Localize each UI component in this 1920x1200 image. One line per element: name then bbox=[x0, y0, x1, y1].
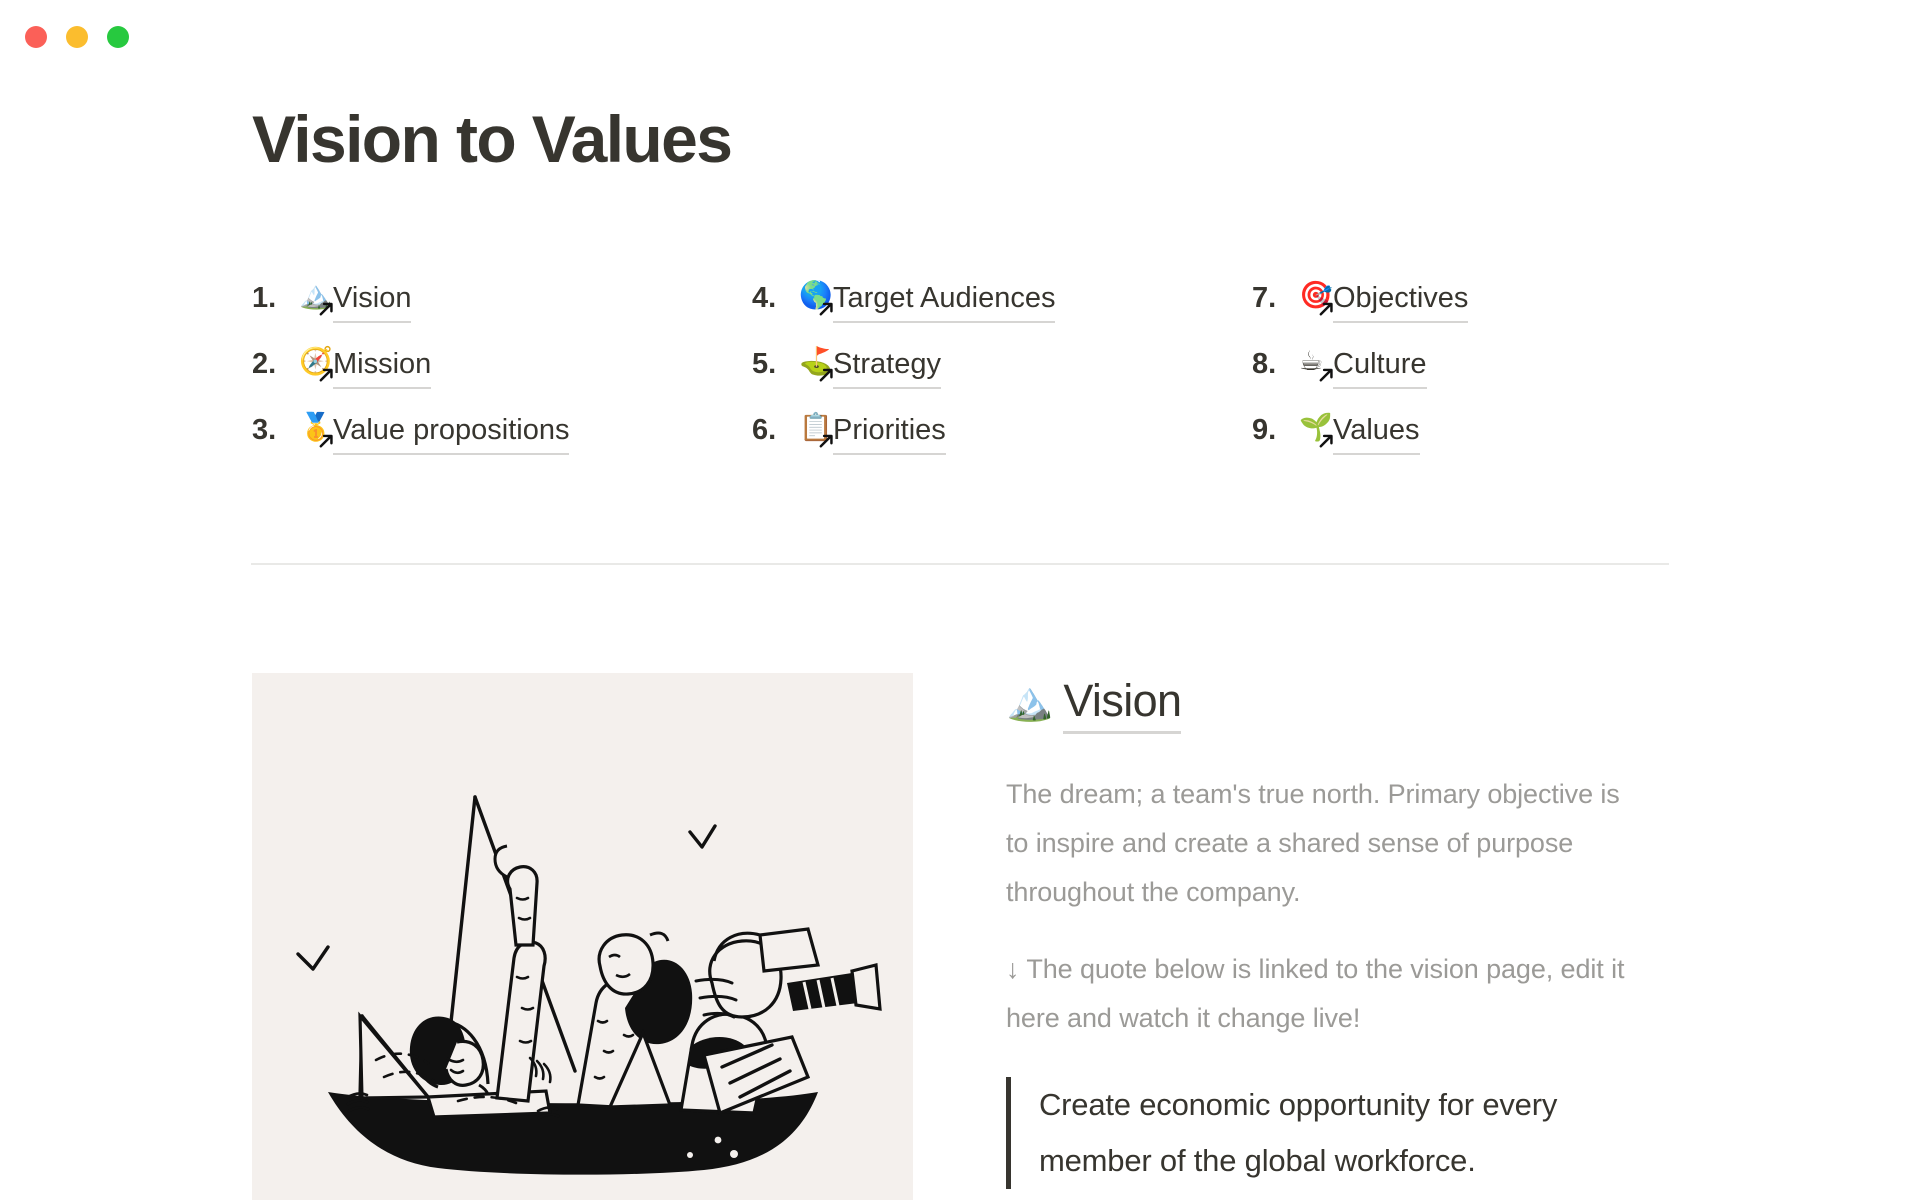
vision-heading-text: Vision bbox=[1063, 675, 1181, 734]
coffee-icon: ☕ bbox=[1299, 347, 1333, 381]
vision-heading: 🏔️ Vision bbox=[1006, 675, 1672, 734]
emoji-glyph: 🥇 bbox=[299, 411, 333, 445]
vision-hint: ↓ The quote below is linked to the visio… bbox=[1006, 945, 1646, 1043]
emoji-glyph: 🧭 bbox=[299, 345, 333, 379]
sailboat-illustration-svg bbox=[252, 673, 913, 1200]
page-title: Vision to Values bbox=[252, 100, 731, 178]
toc-item-label[interactable]: Values bbox=[1333, 408, 1420, 455]
toc-number: 3. bbox=[252, 408, 290, 452]
vision-text-column: 🏔️ Vision The dream; a team's true north… bbox=[1006, 673, 1672, 1200]
emoji-glyph: 🌱 bbox=[1299, 411, 1333, 445]
emoji-glyph: 🏔️ bbox=[299, 279, 333, 313]
toc-item-label[interactable]: Strategy bbox=[833, 342, 941, 389]
toc-item-mission[interactable]: 2. 🧭 Mission bbox=[252, 342, 752, 389]
toc-item-strategy[interactable]: 5. ⛳ Strategy bbox=[752, 342, 1252, 389]
toc-item-label[interactable]: Priorities bbox=[833, 408, 946, 455]
clipboard-icon: 📋 bbox=[799, 413, 833, 447]
toc-item-label[interactable]: Mission bbox=[333, 342, 431, 389]
toc-number: 1. bbox=[252, 276, 290, 320]
toc-item-label[interactable]: Objectives bbox=[1333, 276, 1468, 323]
toc-item-objectives[interactable]: 7. 🎯 Objectives bbox=[1252, 276, 1672, 323]
section-divider bbox=[251, 563, 1669, 565]
vision-section: 🏔️ Vision The dream; a team's true north… bbox=[252, 673, 1672, 1200]
emoji-glyph: ⛳ bbox=[799, 345, 833, 379]
mountain-icon: 🏔️ bbox=[299, 281, 333, 315]
target-icon: 🎯 bbox=[1299, 281, 1333, 315]
vision-description: The dream; a team's true north. Primary … bbox=[1006, 770, 1646, 917]
toc-number: 8. bbox=[1252, 342, 1290, 386]
toc-item-value-propositions[interactable]: 3. 🥇 Value propositions bbox=[252, 408, 752, 455]
toc-number: 5. bbox=[752, 342, 790, 386]
globe-icon: 🌎 bbox=[799, 281, 833, 315]
golf-flag-icon: ⛳ bbox=[799, 347, 833, 381]
toc-item-label[interactable]: Vision bbox=[333, 276, 411, 323]
document-page: Vision to Values 1. 🏔️ Vision 4. 🌎 bbox=[0, 0, 1920, 1200]
toc-number: 6. bbox=[752, 408, 790, 452]
toc-item-label[interactable]: Culture bbox=[1333, 342, 1427, 389]
toc-item-target-audiences[interactable]: 4. 🌎 Target Audiences bbox=[752, 276, 1252, 323]
mountain-icon: 🏔️ bbox=[1006, 675, 1053, 727]
table-of-contents: 1. 🏔️ Vision 4. 🌎 Target Audiences bbox=[252, 276, 1672, 455]
emoji-glyph: 🌎 bbox=[799, 279, 833, 313]
toc-number: 7. bbox=[1252, 276, 1290, 320]
toc-item-vision[interactable]: 1. 🏔️ Vision bbox=[252, 276, 752, 323]
toc-item-label[interactable]: Value propositions bbox=[333, 408, 569, 455]
seedling-icon: 🌱 bbox=[1299, 413, 1333, 447]
emoji-glyph: 🎯 bbox=[1299, 279, 1333, 313]
toc-number: 2. bbox=[252, 342, 290, 386]
toc-item-priorities[interactable]: 6. 📋 Priorities bbox=[752, 408, 1252, 455]
emoji-glyph: 📋 bbox=[799, 411, 833, 445]
toc-item-values[interactable]: 9. 🌱 Values bbox=[1252, 408, 1672, 455]
sailboat-crew-illustration bbox=[252, 673, 913, 1200]
toc-number: 9. bbox=[1252, 408, 1290, 452]
compass-icon: 🧭 bbox=[299, 347, 333, 381]
vision-quote-text: Create economic opportunity for every me… bbox=[1039, 1087, 1557, 1178]
toc-item-label[interactable]: Target Audiences bbox=[833, 276, 1055, 323]
gold-medal-icon: 🥇 bbox=[299, 413, 333, 447]
toc-item-culture[interactable]: 8. ☕ Culture bbox=[1252, 342, 1672, 389]
emoji-glyph: ☕ bbox=[1299, 345, 1323, 379]
toc-number: 4. bbox=[752, 276, 790, 320]
vision-quote-block[interactable]: Create economic opportunity for every me… bbox=[1006, 1077, 1646, 1189]
